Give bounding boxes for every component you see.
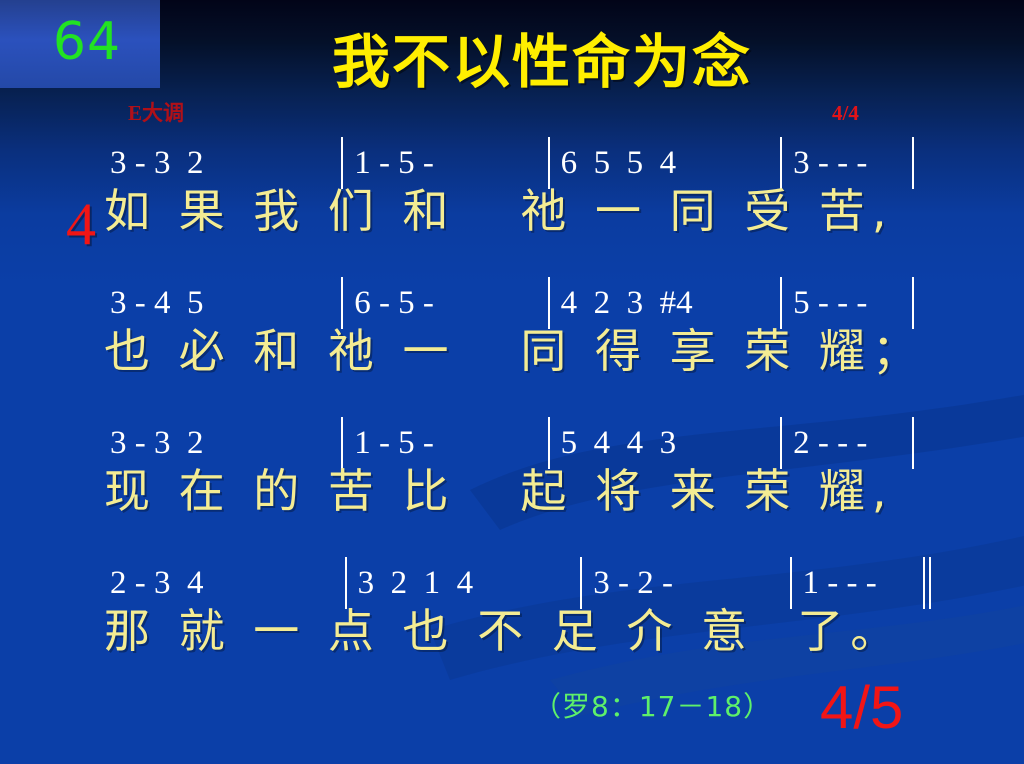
- measure: 3 - 3 2: [110, 427, 330, 460]
- barline: [548, 277, 550, 329]
- barline: [341, 277, 343, 329]
- barline: [780, 417, 782, 469]
- barline: [548, 417, 550, 469]
- measure: 1 - 5 -: [354, 427, 536, 460]
- page-counter: 4/5: [820, 678, 903, 738]
- barline: [345, 557, 347, 609]
- final-barline: [923, 557, 925, 609]
- measure: 3 2 1 4: [358, 567, 570, 600]
- barline: [912, 137, 914, 189]
- measure: 3 - - -: [793, 147, 901, 180]
- measure: 1 - 5 -: [354, 147, 536, 180]
- time-signature-label: 4/4: [832, 103, 859, 124]
- measure: 4 2 3 #4: [561, 287, 770, 320]
- measure: 2 - - -: [793, 427, 901, 460]
- lyrics-row: 现 在 的 苦 比 起 将 来 荣 耀,: [104, 464, 904, 518]
- notation-row: 2 - 3 4 3 2 1 4 3 - 2 - 1 - - -: [110, 560, 925, 606]
- barline: [790, 557, 792, 609]
- barline: [912, 417, 914, 469]
- scripture-reference: （罗8：17－18）: [533, 693, 772, 721]
- lyrics-row: 那 就 一 点 也 不 足 介 意 了。: [104, 604, 904, 658]
- measure: 2 - 3 4: [110, 567, 334, 600]
- lyrics-row: 如 果 我 们 和 祂 一 同 受 苦,: [104, 184, 904, 238]
- page-title: 我不以性命为念: [0, 33, 1024, 91]
- key-signature-label: E大调: [128, 103, 184, 124]
- barline: [548, 137, 550, 189]
- notation-row: 3 - 3 2 1 - 5 - 5 4 4 3 2 - - -: [110, 420, 925, 466]
- notation-row: 3 - 4 5 6 - 5 - 4 2 3 #4 5 - - -: [110, 280, 925, 326]
- measure: 5 - - -: [793, 287, 901, 320]
- barline: [341, 137, 343, 189]
- measure: 3 - 2 -: [593, 567, 778, 600]
- barline: [912, 277, 914, 329]
- music-staff: 3 - 3 2 1 - 5 - 6 5 5 4 3 - - - 如 果 我 们 …: [0, 140, 1024, 700]
- measure: 6 - 5 -: [354, 287, 536, 320]
- measure: 3 - 3 2: [110, 147, 330, 180]
- measure: 1 - - -: [803, 567, 913, 600]
- barline: [780, 137, 782, 189]
- staff-line: 3 - 3 2 1 - 5 - 6 5 5 4 3 - - - 如 果 我 们 …: [0, 140, 1024, 280]
- slide-canvas: 64 我不以性命为念 E大调 4/4 4 3 - 3 2 1 - 5 - 6 5…: [0, 0, 1024, 764]
- barline: [780, 277, 782, 329]
- staff-line: 3 - 4 5 6 - 5 - 4 2 3 #4 5 - - - 也 必 和 祂…: [0, 280, 1024, 420]
- measure: 5 4 4 3: [561, 427, 770, 460]
- lyrics-row: 也 必 和 祂 一 同 得 享 荣 耀；: [104, 324, 904, 378]
- staff-line: 3 - 3 2 1 - 5 - 5 4 4 3 2 - - - 现 在 的 苦 …: [0, 420, 1024, 560]
- measure: 3 - 4 5: [110, 287, 330, 320]
- notation-row: 3 - 3 2 1 - 5 - 6 5 5 4 3 - - -: [110, 140, 925, 186]
- barline: [341, 417, 343, 469]
- measure: 6 5 5 4: [561, 147, 770, 180]
- barline: [580, 557, 582, 609]
